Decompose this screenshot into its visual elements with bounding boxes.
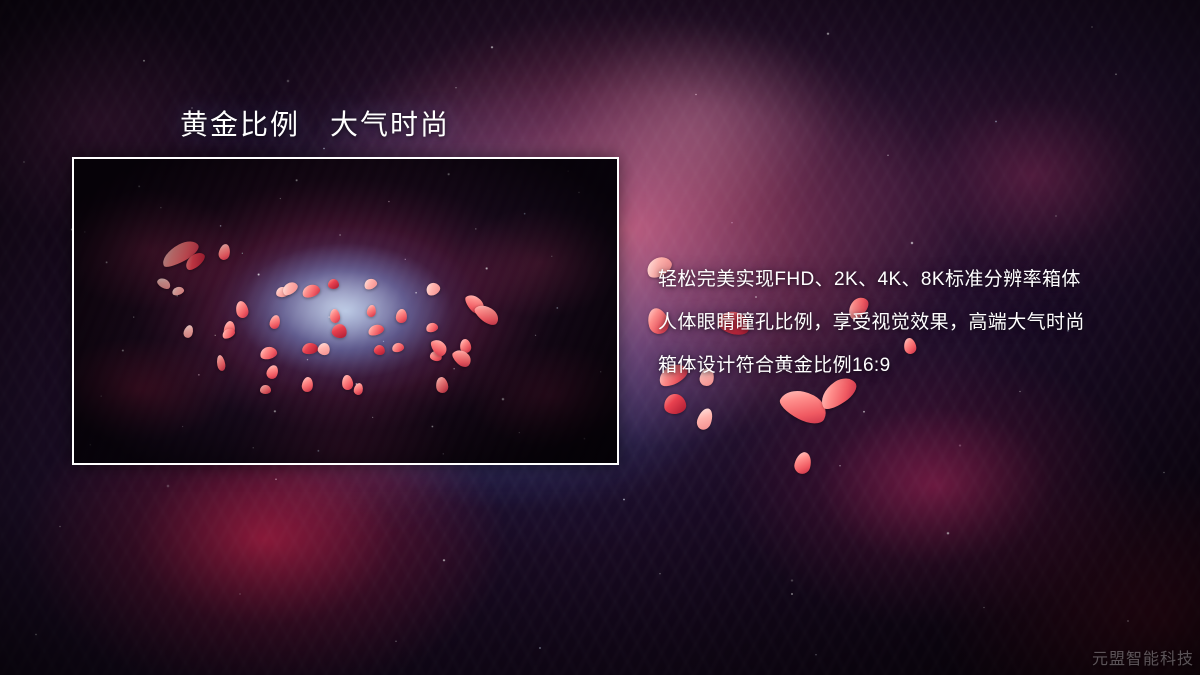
- body-line-2: 人体眼睛瞳孔比例，享受视觉效果，高端大气时尚: [658, 301, 1178, 344]
- body-text-block: 轻松完美实现FHD、2K、4K、8K标准分辨率箱体 人体眼睛瞳孔比例，享受视觉效…: [658, 258, 1178, 387]
- framed-image-panel: [72, 157, 619, 465]
- panel-edge-vignette: [74, 159, 617, 463]
- watermark-brand: 元盟智能科技: [1092, 645, 1194, 669]
- body-line-3: 箱体设计符合黄金比例16:9: [658, 344, 1178, 387]
- body-line-1: 轻松完美实现FHD、2K、4K、8K标准分辨率箱体: [658, 258, 1178, 301]
- page-title: 黄金比例 大气时尚: [180, 103, 450, 143]
- slide-canvas: 黄金比例 大气时尚: [0, 0, 1200, 675]
